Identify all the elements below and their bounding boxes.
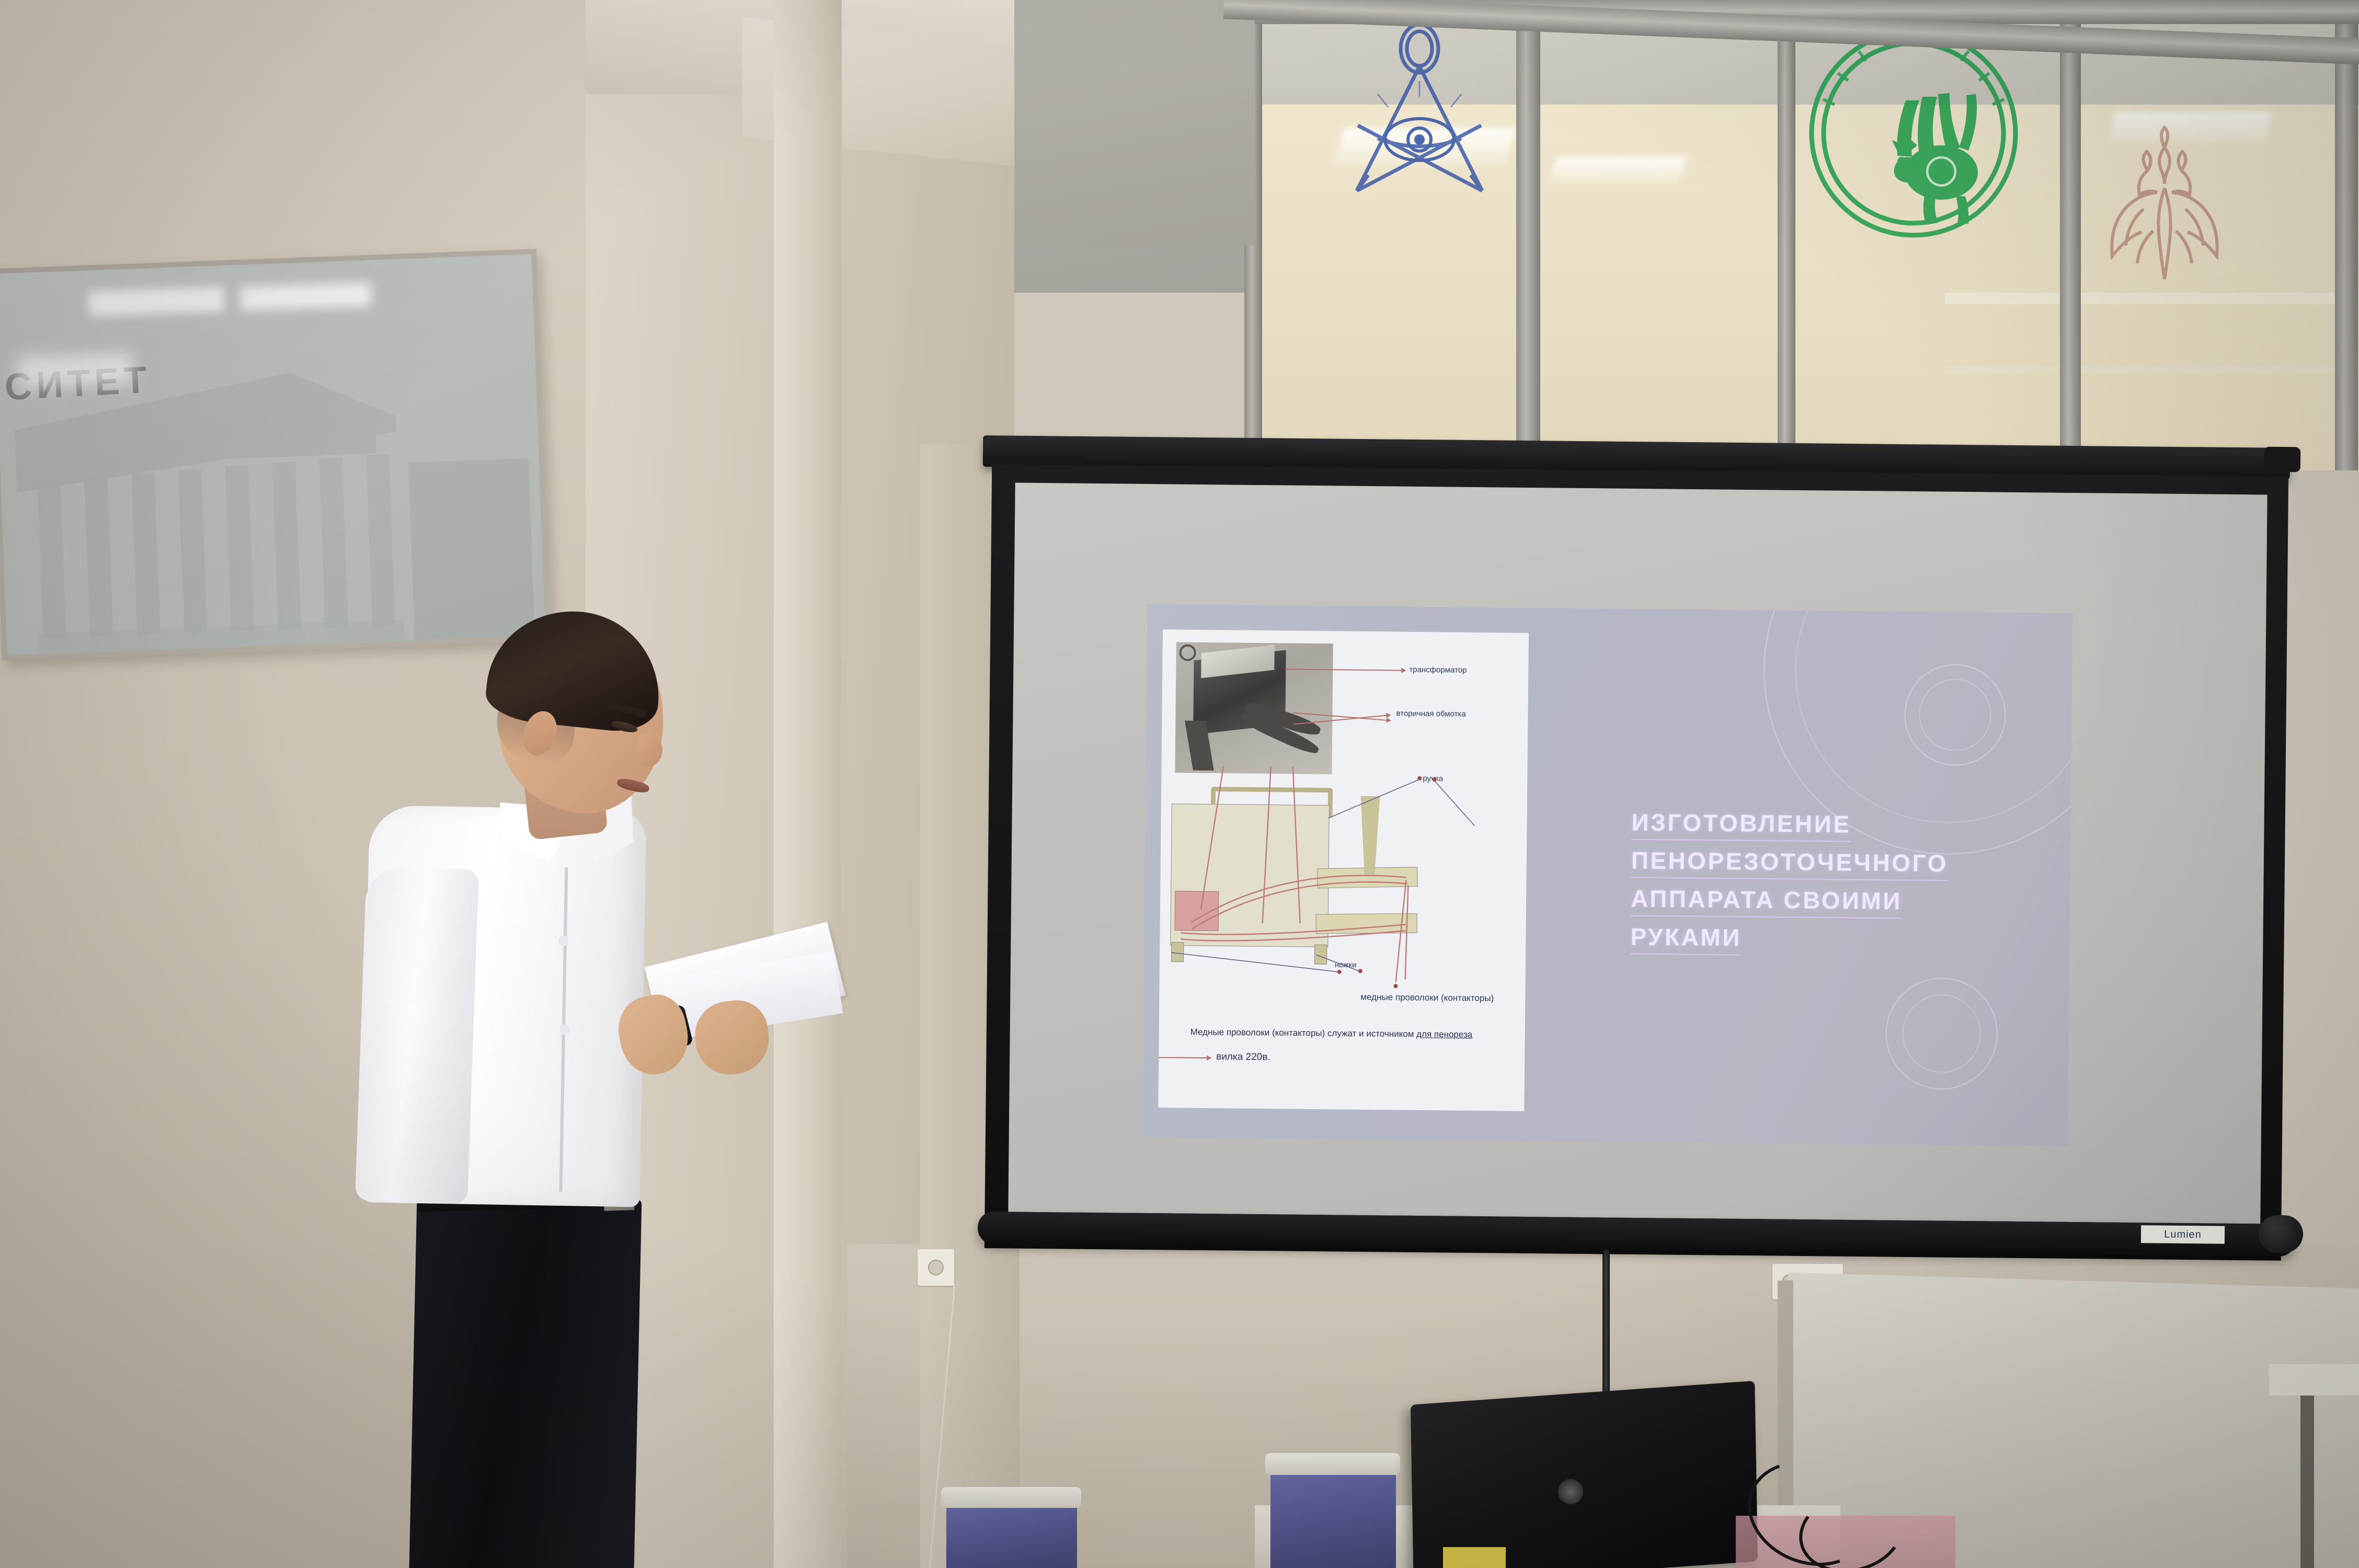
slide-title-line-4: РУКАМИ xyxy=(1630,925,1742,955)
glass-partition xyxy=(1244,0,2359,470)
desk-shelf xyxy=(2269,1364,2359,1396)
glass-mullion xyxy=(1778,0,1795,470)
desk-note xyxy=(1443,1547,1506,1568)
chair-left-top xyxy=(941,1487,1081,1508)
transformer-cord xyxy=(1179,644,1196,661)
university-building-illustration xyxy=(0,254,545,655)
chair-right xyxy=(1270,1466,1396,1568)
interior-light-glare xyxy=(1549,157,1687,183)
diagram-note-line1: Медные проволоки (контакторы) служат и и… xyxy=(1190,1027,1473,1040)
diagram-plug-label: вилка 220в. xyxy=(1216,1051,1270,1063)
presentation-slide: трансформатор вторичная обмотка ручка но… xyxy=(1142,604,2073,1146)
screen-end-knob xyxy=(2259,1215,2304,1253)
chair-left xyxy=(946,1500,1077,1568)
shirt-button xyxy=(558,936,569,946)
plug-arrow xyxy=(1158,1057,1211,1058)
wall-pillar xyxy=(774,0,842,1568)
green-circular-feline-emblem xyxy=(1801,21,2026,246)
diagram-label-secondary-winding: вторичная обмотка xyxy=(1396,709,1465,719)
glass-mullion xyxy=(2060,0,2081,470)
slide-decor-circle xyxy=(1902,994,1981,1073)
desk-leg xyxy=(2300,1396,2314,1568)
slide-diagram-document: трансформатор вторичная обмотка ручка но… xyxy=(1158,629,1529,1111)
slide-title-line-3: АППАРАТА СВОИМИ xyxy=(1631,886,1902,919)
diagram-label-transformer: трансформатор xyxy=(1409,665,1467,675)
masonic-compass-eye-emblem xyxy=(1325,18,1514,238)
wall-poster-board: РСИТЕТ xyxy=(0,249,551,661)
transformer-photo xyxy=(1175,642,1333,775)
board-glare xyxy=(239,282,371,311)
shirt-button xyxy=(559,1024,570,1035)
board-glare xyxy=(88,286,225,316)
screen-top-cap xyxy=(2264,447,2300,472)
classroom-presentation-scene: РСИТЕТ xyxy=(0,0,2359,1568)
slide-title-line-1: ИЗГОТОВЛЕНИЕ xyxy=(1631,810,1851,842)
laptop[interactable] xyxy=(1411,1381,1758,1568)
slide-decor-circle xyxy=(1919,678,1991,751)
slide-title-block: ИЗГОТОВЛЕНИЕ ПЕНОРЕЗОТОЧЕЧНОГО АППАРАТА … xyxy=(1630,810,1998,966)
projection-screen-canvas: трансформатор вторичная обмотка ручка но… xyxy=(1008,483,2267,1224)
slide-title-line-2: ПЕНОРЕЗОТОЧЕЧНОГО xyxy=(1631,848,1948,881)
ceiling-section xyxy=(1009,0,1255,246)
double-headed-eagle-emblem xyxy=(2086,120,2243,293)
presenter-trousers xyxy=(409,1195,642,1568)
glass-mullion xyxy=(1516,0,1540,470)
board-glare xyxy=(17,352,133,388)
chair-right-top xyxy=(1265,1453,1400,1475)
glass-mullion xyxy=(2335,0,2358,470)
presenter-sleeve xyxy=(355,866,479,1204)
leader-lines xyxy=(1159,755,1528,1009)
wall-socket-left[interactable] xyxy=(918,1249,954,1286)
screen-brand-label: Lumien xyxy=(2141,1225,2225,1244)
